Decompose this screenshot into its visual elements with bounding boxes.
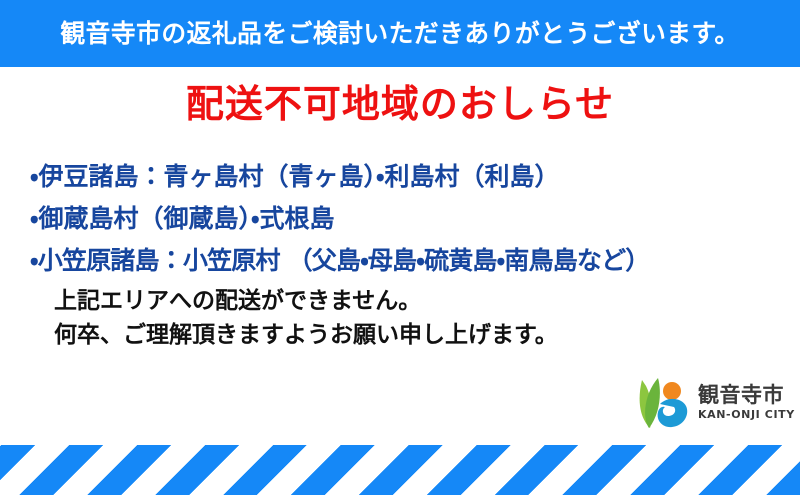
header-banner-text: 観音寺市の返礼品をご検討いただきありがとうございます。 [60,21,739,46]
bird-shape [658,399,688,427]
sun-circle-shape [663,382,681,400]
diagonal-stripe-band [0,445,800,495]
city-logo-name-en: KAN-ONJI CITY [698,408,795,422]
page-title-text: 配送不可地域のおしらせ [186,82,614,126]
list-item: ・伊豆諸島：青ヶ島村（青ヶ島）・利島村（利島） [30,156,790,198]
excluded-area-list: ・伊豆諸島：青ヶ島村（青ヶ島）・利島村（利島） ・御蔵島村（御蔵島）・式根島 ・… [30,156,790,282]
leaf-inner-shape [645,378,660,428]
delivery-unavailable-notice-card: 観音寺市の返礼品をご検討いただきありがとうございます。 配送不可地域のおしらせ … [0,0,800,495]
notice-message: 上記エリアへの配送ができません。 何卒、ご理解頂きますようお願い申し上げます。 [54,284,754,352]
header-banner: 観音寺市の返礼品をご検討いただきありがとうございます。 [0,0,800,67]
city-logo-name-ja: 観音寺市 [698,384,784,406]
page-title: 配送不可地域のおしらせ [0,84,800,126]
notice-message-line: 何卒、ご理解頂きますようお願い申し上げます。 [54,318,754,352]
list-item: ・小笠原諸島：小笠原村 （父島・母島・硫黄島・南鳥島など） [30,240,790,282]
notice-message-line: 上記エリアへの配送ができません。 [54,284,754,318]
city-logo-wordmark: 観音寺市 KAN-ONJI CITY [698,384,795,422]
list-item: ・御蔵島村（御蔵島）・式根島 [30,198,790,240]
kanonji-city-logo-icon [636,374,692,432]
city-logo: 観音寺市 KAN-ONJI CITY [636,372,794,434]
